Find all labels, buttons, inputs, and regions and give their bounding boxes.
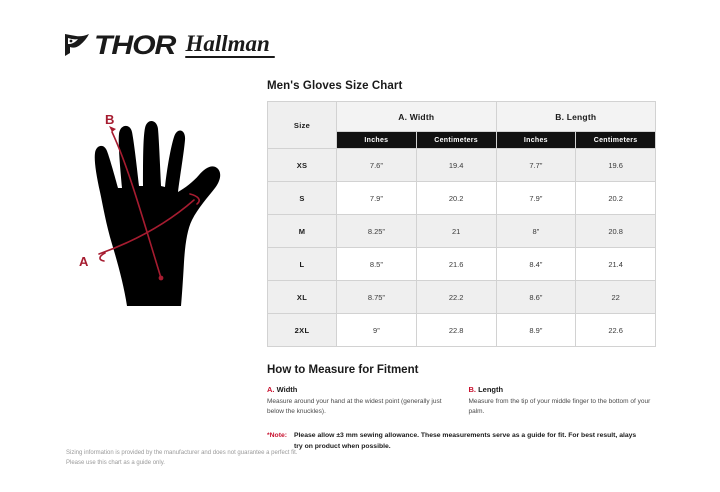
measure-length-block: B. Length Measure from the tip of your m… [469,385,657,417]
page-title: Men's Gloves Size Chart [267,80,656,92]
cell-length-inches: 7.7” [496,149,576,182]
cell-width-inches: 8.5” [337,248,417,281]
cell-length-centimeters: 22.6 [576,314,656,347]
column-header-length-group: B. Length [496,102,656,132]
note-text: Please allow ±3 mm sewing allowance. The… [294,431,644,453]
cell-width-inches: 7.9” [337,182,417,215]
cell-width-centimeters: 21.6 [416,248,496,281]
table-row: L 8.5” 21.6 8.4” 21.4 [268,248,656,281]
column-header-width-inches: Inches [337,132,417,149]
measure-instructions: A. Width Measure around your hand at the… [267,385,656,417]
cell-width-inches: 9” [337,314,417,347]
cell-width-centimeters: 21 [416,215,496,248]
cell-width-inches: 8.75” [337,281,417,314]
cell-length-inches: 8” [496,215,576,248]
brand-logo-bar: THOR Hallman [62,30,273,60]
cell-length-inches: 7.9” [496,182,576,215]
footer-line-2: Please use this chart as a guide only. [66,458,297,468]
measure-width-block: A. Width Measure around your hand at the… [267,385,455,417]
cell-length-centimeters: 20.8 [576,215,656,248]
cell-length-centimeters: 19.6 [576,149,656,182]
diagram-label-a: A [79,254,89,269]
hallman-logo-text: Hallman [183,32,273,58]
table-row: XL 8.75” 22.2 8.6” 22 [268,281,656,314]
diagram-label-b: B [105,112,114,127]
cell-size: M [268,215,337,248]
cell-length-centimeters: 20.2 [576,182,656,215]
cell-length-centimeters: 22 [576,281,656,314]
table-row: S 7.9” 20.2 7.9” 20.2 [268,182,656,215]
measure-length-heading: B. Length [469,385,657,394]
thor-helmet-icon [62,30,92,60]
footer-disclaimer: Sizing information is provided by the ma… [66,448,297,468]
table-header-row-groups: Size A. Width B. Length [268,102,656,132]
table-row: XS 7.6” 19.4 7.7” 19.6 [268,149,656,182]
cell-width-centimeters: 19.4 [416,149,496,182]
measure-width-description: Measure around your hand at the widest p… [267,397,455,417]
cell-size: S [268,182,337,215]
measure-width-heading: A. Width [267,385,455,394]
thor-logo-text: THOR [94,32,175,59]
cell-width-centimeters: 20.2 [416,182,496,215]
cell-length-inches: 8.6” [496,281,576,314]
table-row: 2XL 9” 22.8 8.9” 22.6 [268,314,656,347]
hand-measurement-diagram: B A [72,96,257,316]
measure-length-letter: B. [469,385,477,394]
cell-width-inches: 7.6” [337,149,417,182]
cell-size: XL [268,281,337,314]
note-label: *Note: [267,431,287,439]
cell-length-centimeters: 21.4 [576,248,656,281]
cell-size: 2XL [268,314,337,347]
cell-size: XS [268,149,337,182]
cell-width-centimeters: 22.2 [416,281,496,314]
column-header-width-group: A. Width [337,102,497,132]
column-header-width-centimeters: Centimeters [416,132,496,149]
size-chart-table: Size A. Width B. Length Inches Centimete… [267,101,656,347]
cell-length-inches: 8.4” [496,248,576,281]
table-row: M 8.25” 21 8” 20.8 [268,215,656,248]
measure-width-name: Width [277,385,298,394]
column-header-length-centimeters: Centimeters [576,132,656,149]
measure-width-letter: A. [267,385,275,394]
note-block: *Note: Please allow ±3 mm sewing allowan… [267,431,656,453]
thor-logo: THOR [62,30,167,60]
measure-length-description: Measure from the tip of your middle fing… [469,397,657,417]
measure-length-name: Length [478,385,503,394]
measure-section-title: How to Measure for Fitment [267,364,656,376]
footer-line-1: Sizing information is provided by the ma… [66,448,297,458]
column-header-size: Size [268,102,337,149]
cell-width-inches: 8.25” [337,215,417,248]
cell-width-centimeters: 22.8 [416,314,496,347]
cell-size: L [268,248,337,281]
hand-silhouette-icon [95,121,220,306]
cell-length-inches: 8.9” [496,314,576,347]
column-header-length-inches: Inches [496,132,576,149]
